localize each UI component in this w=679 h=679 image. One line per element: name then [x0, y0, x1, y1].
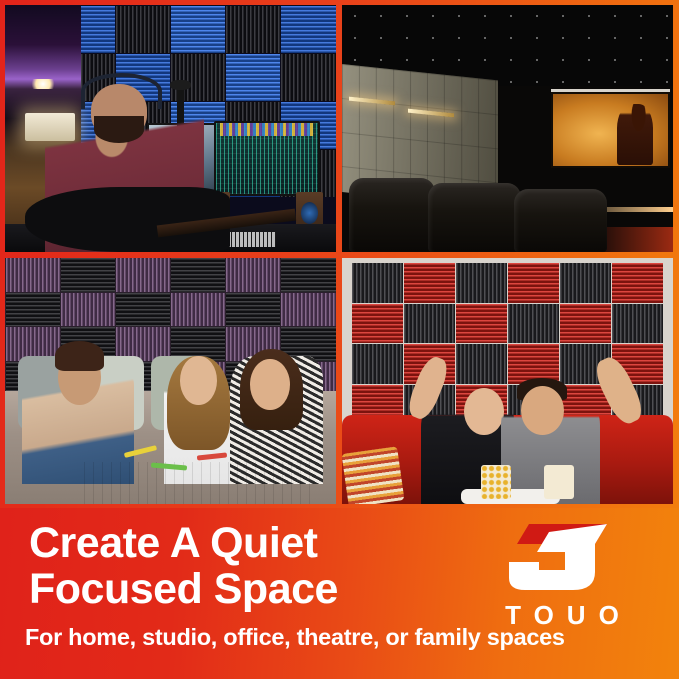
headphones-icon [81, 73, 162, 109]
studio-bulbs [28, 79, 58, 89]
man-face [521, 386, 564, 435]
patterned-mug [481, 465, 511, 500]
daw-clip-lanes [220, 123, 313, 135]
brand-lockup: TOUO [478, 522, 646, 631]
recliner-seat-2 [428, 183, 521, 251]
theatre-seating [342, 178, 673, 252]
projection-screen [551, 89, 670, 168]
guitarist-beard [94, 116, 144, 143]
collage-cell-music-studio: Music studio with guitarist wearing head… [5, 5, 336, 252]
photo-collage: Music studio with guitarist wearing head… [0, 0, 679, 508]
collage-cell-family-living-room: Family drawing together at a white table… [5, 258, 336, 505]
collage-cell-home-theatre: Home theatre with recliner seats, starli… [342, 5, 673, 252]
plain-mug [544, 465, 574, 500]
mother-head [250, 359, 290, 411]
white-coffee-table [84, 462, 309, 504]
brand-wordmark: TOUO [478, 600, 646, 631]
screen-dancers-silhouette [617, 104, 653, 165]
touo-logo-mark [503, 522, 621, 594]
headline-line-2: Focused Space [29, 566, 338, 612]
woman-face [464, 388, 504, 435]
headline-line-1: Create A Quiet [29, 520, 338, 566]
recliner-seat-1 [349, 178, 435, 252]
child-head [180, 356, 216, 405]
striped-pillow [342, 446, 405, 504]
collage-cell-couple-sofa: Couple on a red sofa pointing and smilin… [342, 258, 673, 505]
logo-j-icon [503, 522, 621, 594]
recliner-seat-3 [514, 189, 607, 251]
headline-block: Create A Quiet Focused Space [29, 520, 338, 612]
father-hair [55, 341, 105, 371]
promo-banner: Create A Quiet Focused Space For home, s… [0, 508, 679, 679]
product-marketing-image: Music studio with guitarist wearing head… [0, 0, 679, 679]
